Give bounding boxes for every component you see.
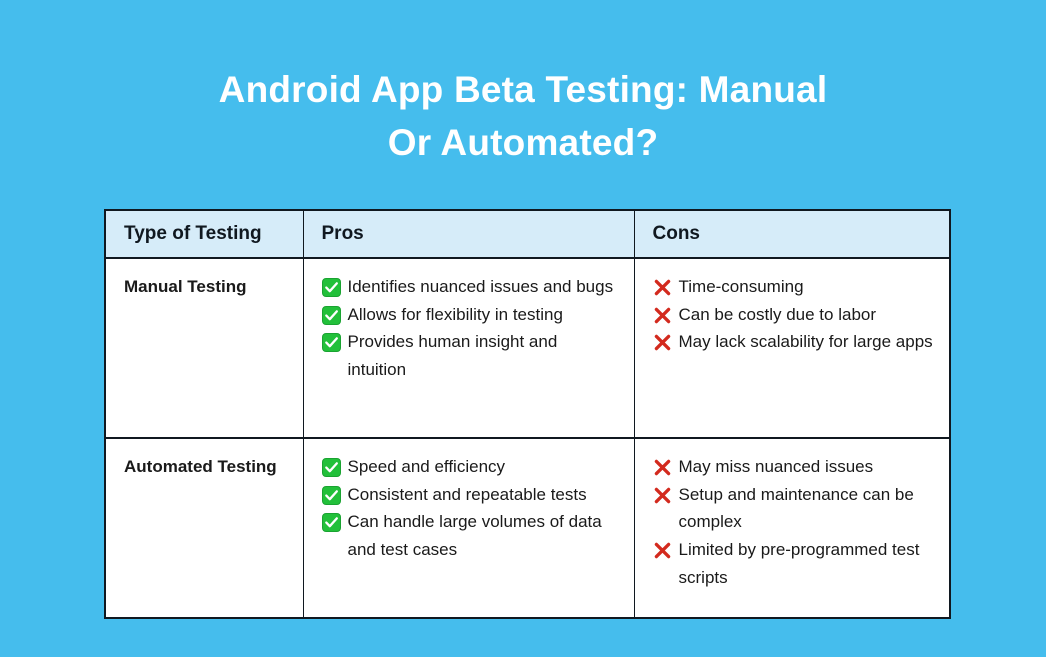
column-header-type-of-testing: Type of Testing bbox=[105, 210, 303, 258]
list-item: Identifies nuanced issues and bugs bbox=[322, 273, 620, 301]
pros-cell-manual: Identifies nuanced issues and bugs Allow bbox=[303, 258, 634, 438]
list-item: Can handle large volumes of data and tes… bbox=[322, 508, 620, 563]
cross-mark-icon bbox=[653, 278, 672, 297]
list-item: May miss nuanced issues bbox=[653, 453, 936, 481]
table-row: Automated Testing Speed and eff bbox=[105, 438, 950, 618]
list-item-text: Setup and maintenance can be complex bbox=[679, 485, 914, 532]
list-item-text: May lack scalability for large apps bbox=[679, 332, 933, 351]
list-item-text: Identifies nuanced issues and bugs bbox=[348, 277, 614, 296]
list-item-text: Speed and efficiency bbox=[348, 457, 506, 476]
cross-mark-icon bbox=[653, 486, 672, 505]
table-header-row: Type of Testing Pros Cons bbox=[105, 210, 950, 258]
list-item: Speed and efficiency bbox=[322, 453, 620, 481]
cross-mark-icon bbox=[653, 333, 672, 352]
pros-list-manual: Identifies nuanced issues and bugs Allow bbox=[322, 273, 620, 384]
cons-cell-automated: May miss nuanced issues Setup and mainte… bbox=[634, 438, 950, 618]
row-label-automated-testing: Automated Testing bbox=[105, 438, 303, 618]
list-item: Setup and maintenance can be complex bbox=[653, 481, 936, 536]
pros-cell-automated: Speed and efficiency Consistent and repe bbox=[303, 438, 634, 618]
comparison-table: Type of Testing Pros Cons Manual Testing bbox=[104, 209, 951, 619]
row-label-manual-testing: Manual Testing bbox=[105, 258, 303, 438]
list-item-text: Limited by pre-programmed test scripts bbox=[679, 540, 920, 587]
list-item: Provides human insight and intuition bbox=[322, 328, 620, 383]
list-item: Allows for flexibility in testing bbox=[322, 301, 620, 329]
list-item-text: May miss nuanced issues bbox=[679, 457, 874, 476]
cons-cell-manual: Time-consuming Can be costly due to labo… bbox=[634, 258, 950, 438]
list-item: Consistent and repeatable tests bbox=[322, 481, 620, 509]
cross-mark-icon bbox=[653, 306, 672, 325]
check-mark-button-icon bbox=[322, 486, 341, 505]
list-item-text: Allows for flexibility in testing bbox=[348, 305, 563, 324]
cons-list-manual: Time-consuming Can be costly due to labo… bbox=[653, 273, 936, 356]
cross-mark-icon bbox=[653, 541, 672, 560]
list-item-text: Consistent and repeatable tests bbox=[348, 485, 587, 504]
table-header: Type of Testing Pros Cons bbox=[105, 210, 950, 258]
check-mark-button-icon bbox=[322, 306, 341, 325]
list-item-text: Can handle large volumes of data and tes… bbox=[348, 512, 602, 559]
column-header-pros: Pros bbox=[303, 210, 634, 258]
list-item: May lack scalability for large apps bbox=[653, 328, 936, 356]
cross-mark-icon bbox=[653, 458, 672, 477]
check-mark-button-icon bbox=[322, 458, 341, 477]
table-body: Manual Testing Identifies nuanc bbox=[105, 258, 950, 618]
cons-list-automated: May miss nuanced issues Setup and mainte… bbox=[653, 453, 936, 592]
table-row: Manual Testing Identifies nuanc bbox=[105, 258, 950, 438]
comparison-table-container: Type of Testing Pros Cons Manual Testing bbox=[104, 209, 949, 619]
check-mark-button-icon bbox=[322, 278, 341, 297]
column-header-cons: Cons bbox=[634, 210, 950, 258]
poster-canvas: Android App Beta Testing: Manual Or Auto… bbox=[0, 0, 1046, 657]
list-item-text: Can be costly due to labor bbox=[679, 305, 877, 324]
check-mark-button-icon bbox=[322, 513, 341, 532]
check-mark-button-icon bbox=[322, 333, 341, 352]
list-item-text: Time-consuming bbox=[679, 277, 804, 296]
page-title: Android App Beta Testing: Manual Or Auto… bbox=[0, 64, 1046, 170]
list-item: Time-consuming bbox=[653, 273, 936, 301]
list-item: Limited by pre-programmed test scripts bbox=[653, 536, 936, 591]
list-item-text: Provides human insight and intuition bbox=[348, 332, 558, 379]
list-item: Can be costly due to labor bbox=[653, 301, 936, 329]
pros-list-automated: Speed and efficiency Consistent and repe bbox=[322, 453, 620, 564]
